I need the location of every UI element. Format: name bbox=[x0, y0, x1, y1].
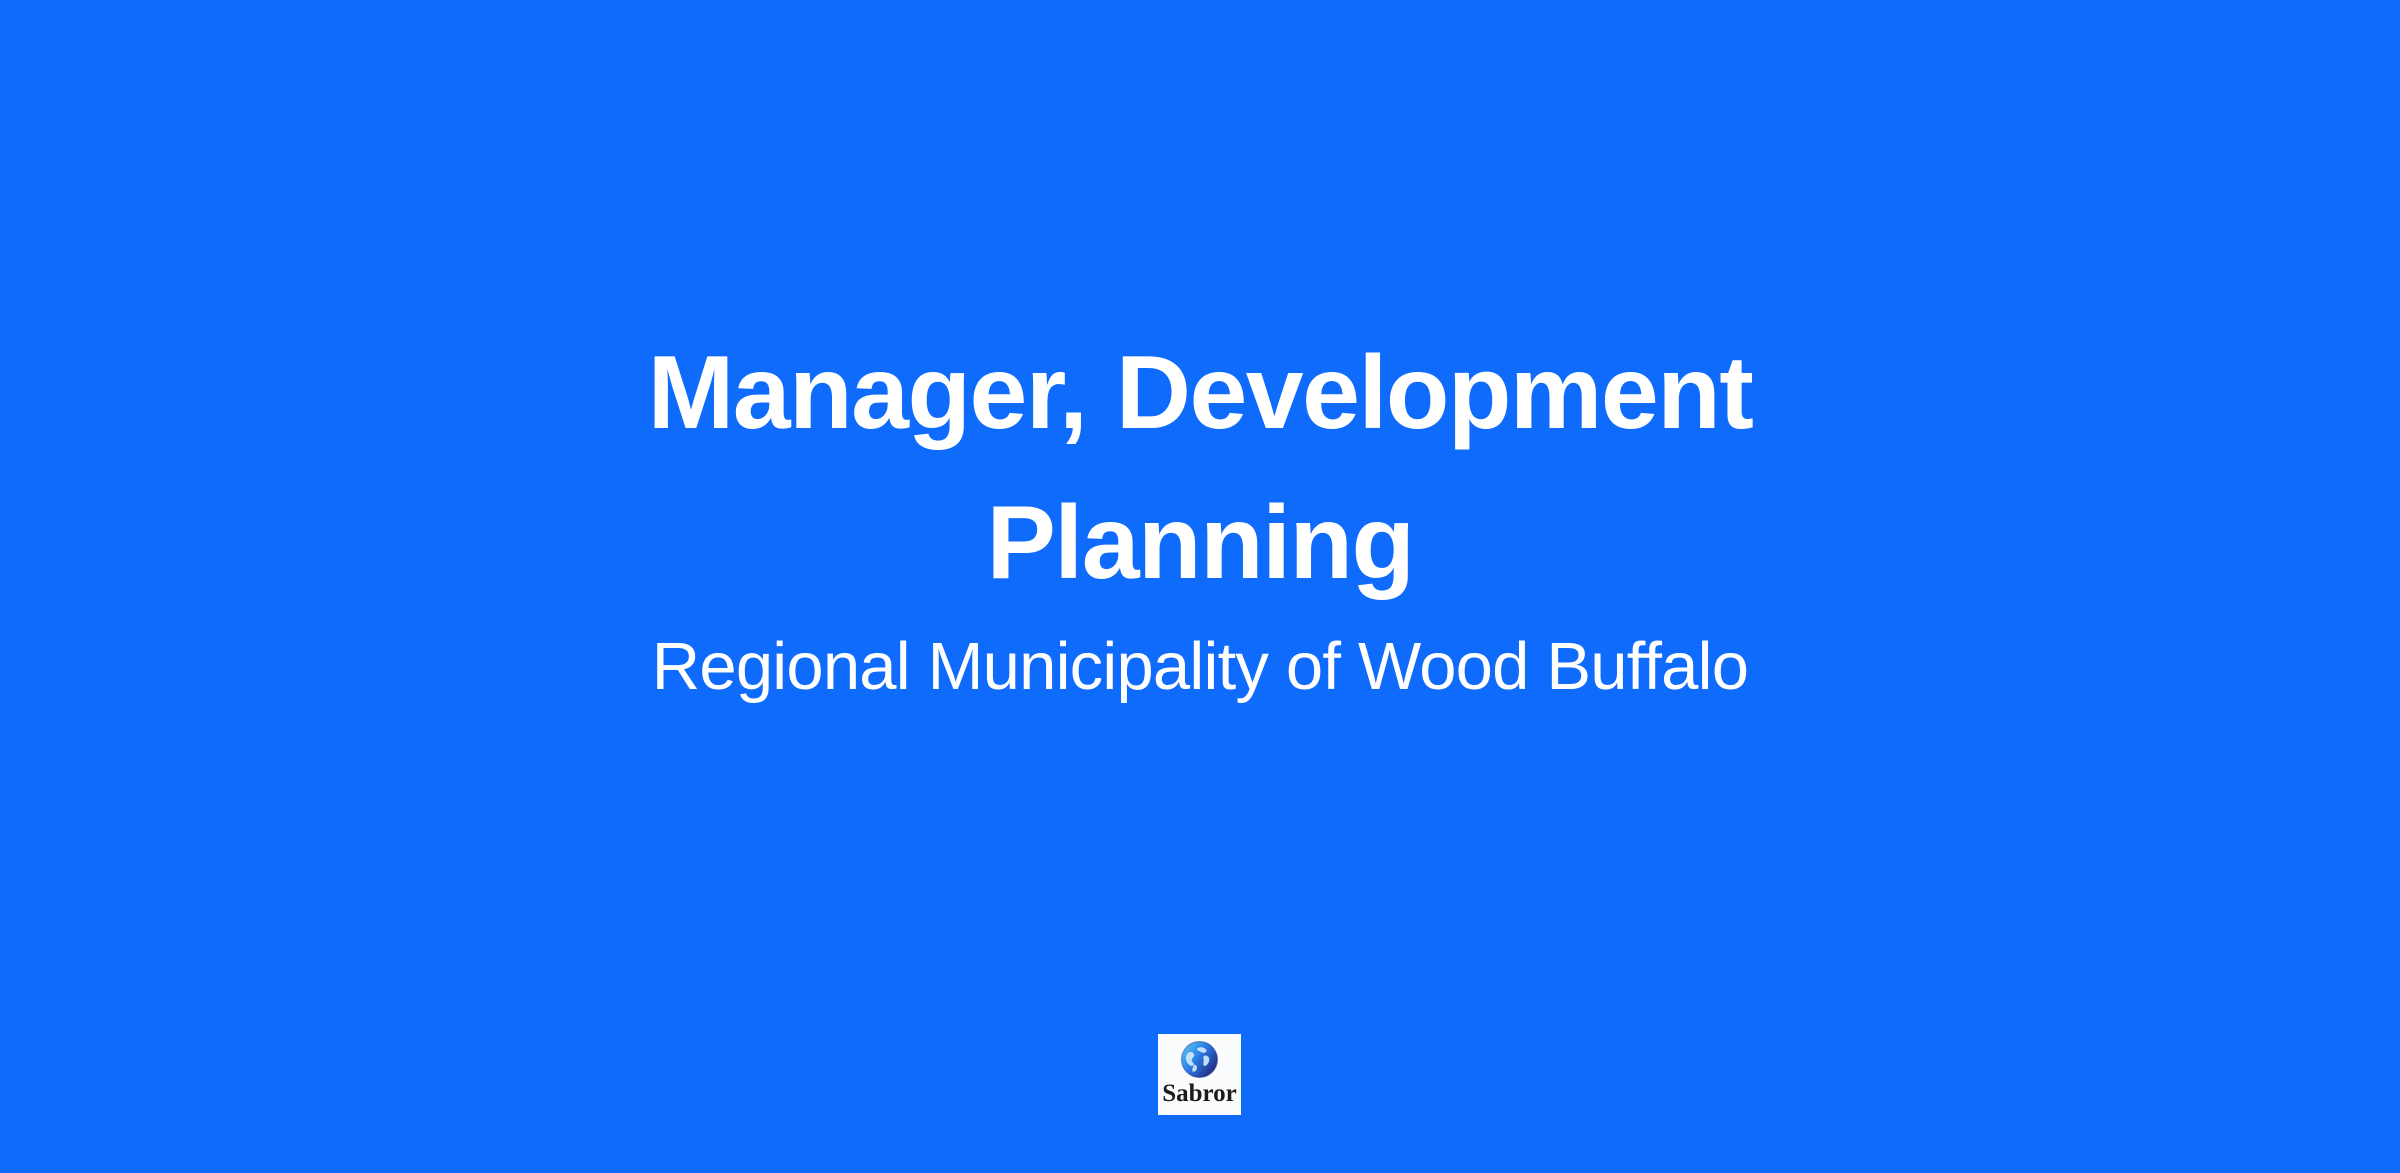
brand-logo[interactable]: Sabror bbox=[1158, 1034, 1241, 1115]
hero-banner: Manager, Development Planning Regional M… bbox=[0, 0, 2400, 1173]
page-subtitle: Regional Municipality of Wood Buffalo bbox=[652, 618, 1748, 710]
globe-icon bbox=[1179, 1039, 1220, 1080]
page-title: Manager, Development Planning bbox=[545, 318, 1855, 618]
hero-text-block: Manager, Development Planning Regional M… bbox=[0, 318, 2400, 710]
brand-wordmark: Sabror bbox=[1162, 1080, 1237, 1107]
